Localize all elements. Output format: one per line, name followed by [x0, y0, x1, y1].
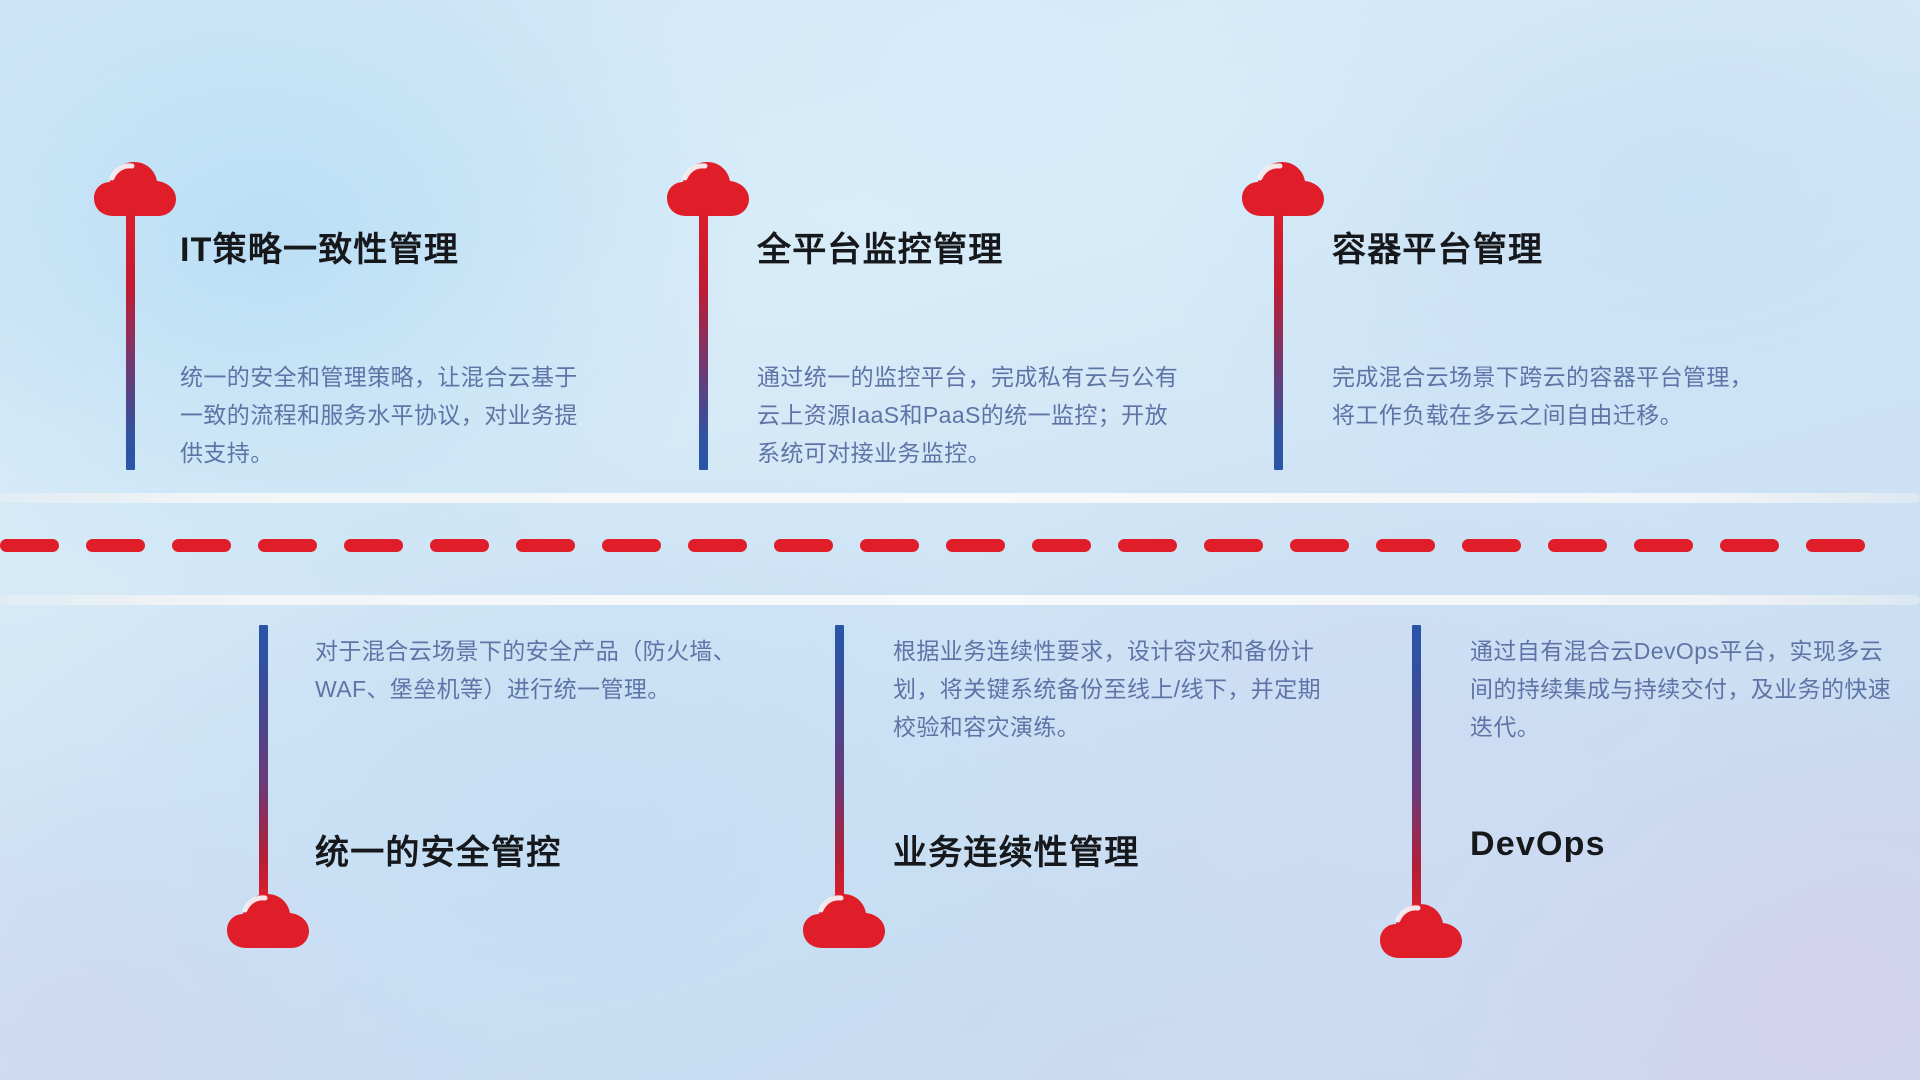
- connector-stem: [835, 625, 844, 900]
- top-item-3-title: 容器平台管理: [1332, 222, 1543, 271]
- top-item-2-body: 通过统一的监控平台，完成私有云与公有云上资源IaaS和PaaS的统一监控；开放系…: [757, 358, 1182, 472]
- dashed-separator: [0, 539, 1920, 552]
- bottom-item-2-body: 根据业务连续性要求，设计容灾和备份计划，将关键系统备份至线上/线下，并定期校验和…: [893, 632, 1323, 746]
- cloud-icon: [801, 890, 887, 952]
- dash-segment: [1376, 539, 1435, 552]
- dash-segment: [774, 539, 833, 552]
- top-item-1-body: 统一的安全和管理策略，让混合云基于一致的流程和服务水平协议，对业务提供支持。: [180, 358, 600, 472]
- dash-segment: [86, 539, 145, 552]
- dash-segment: [344, 539, 403, 552]
- cloud-icon: [225, 890, 311, 952]
- connector-stem: [699, 200, 708, 470]
- cloud-icon: [1378, 900, 1464, 962]
- dash-segment: [1720, 539, 1779, 552]
- dash-segment: [0, 539, 59, 552]
- dash-segment: [516, 539, 575, 552]
- bottom-item-3-body: 通过自有混合云DevOps平台，实现多云间的持续集成与持续交付，及业务的快速迭代…: [1470, 632, 1895, 746]
- divider-bar-bottom: [0, 595, 1920, 605]
- dash-segment: [1806, 539, 1865, 552]
- dash-segment: [1118, 539, 1177, 552]
- dash-segment: [688, 539, 747, 552]
- dash-segment: [860, 539, 919, 552]
- connector-stem: [1274, 200, 1283, 470]
- dash-segment: [1462, 539, 1521, 552]
- dash-segment: [172, 539, 231, 552]
- dash-segment: [1032, 539, 1091, 552]
- top-item-1-title: IT策略一致性管理: [180, 222, 459, 271]
- dash-segment: [430, 539, 489, 552]
- cloud-icon: [665, 158, 751, 220]
- dash-segment: [1204, 539, 1263, 552]
- cloud-icon: [1240, 158, 1326, 220]
- connector-stem: [126, 200, 135, 470]
- cloud-icon: [92, 158, 178, 220]
- connector-stem: [1412, 625, 1421, 915]
- infographic-canvas: IT策略一致性管理 统一的安全和管理策略，让混合云基于一致的流程和服务水平协议，…: [0, 0, 1920, 1080]
- bottom-item-3-title: DevOps: [1470, 825, 1606, 864]
- dash-segment: [1548, 539, 1607, 552]
- dash-segment: [258, 539, 317, 552]
- top-item-2-title: 全平台监控管理: [757, 222, 1003, 271]
- dash-segment: [946, 539, 1005, 552]
- dash-segment: [1290, 539, 1349, 552]
- connector-stem: [259, 625, 268, 900]
- bottom-item-2-title: 业务连续性管理: [893, 825, 1139, 874]
- divider-bar-top: [0, 493, 1920, 503]
- bottom-item-1-body: 对于混合云场景下的安全产品（防火墙、WAF、堡垒机等）进行统一管理。: [315, 632, 740, 708]
- top-item-3-body: 完成混合云场景下跨云的容器平台管理，将工作负载在多云之间自由迁移。: [1332, 358, 1757, 434]
- bottom-item-1-title: 统一的安全管控: [315, 825, 561, 874]
- dash-segment: [1634, 539, 1693, 552]
- dash-segment: [602, 539, 661, 552]
